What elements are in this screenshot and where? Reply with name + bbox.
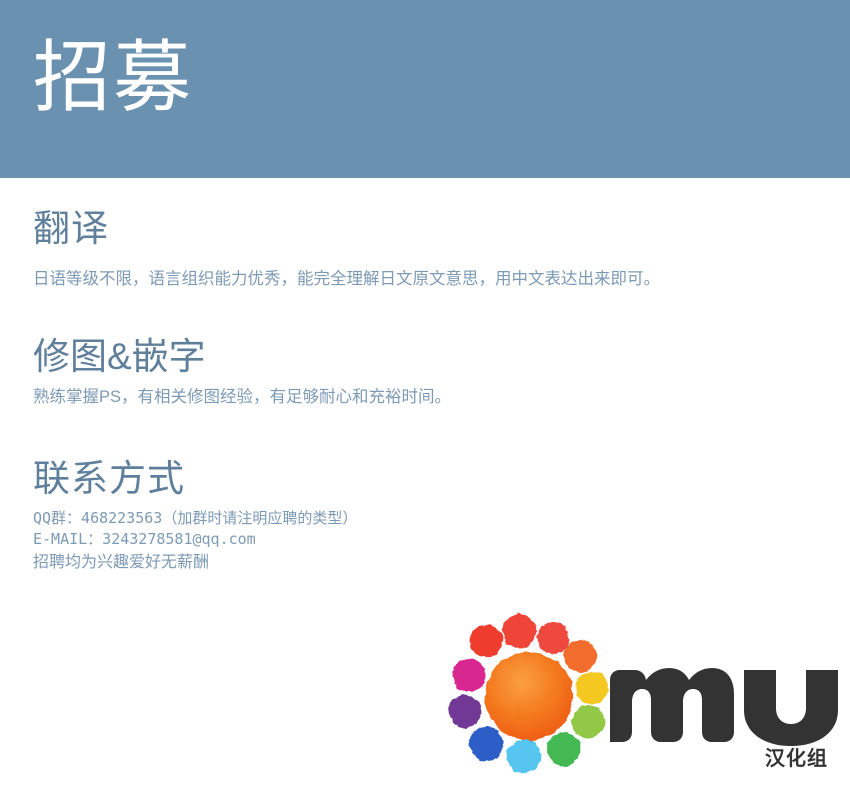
section-retouch-typeset: 修图&嵌字 熟练掌握PS，有相关修图经验，有足够耐心和充裕时间。 [33, 336, 451, 410]
dot-red-top [502, 614, 536, 648]
page-title: 招募 [33, 38, 193, 116]
brand-logo: 汉化组 [440, 608, 850, 800]
contact-line-qq[interactable]: QQ群：468223563（加群时请注明应聘的类型） [33, 508, 357, 530]
section-contact: 联系方式 QQ群：468223563（加群时请注明应聘的类型） E-MAIL：3… [33, 458, 357, 574]
dot-red-top-right [537, 622, 569, 654]
contact-line-note: 招聘均为兴趣爱好无薪酬 [33, 551, 357, 574]
section-retouch-typeset-heading: 修图&嵌字 [33, 336, 451, 379]
contact-list: QQ群：468223563（加群时请注明应聘的类型） E-MAIL：324327… [33, 508, 357, 575]
dot-magenta [453, 659, 486, 692]
section-contact-heading: 联系方式 [33, 458, 357, 501]
dot-purple [449, 695, 482, 728]
dot-blue [469, 727, 503, 761]
header-banner: 招募 [0, 0, 850, 178]
dot-red-top-left [470, 625, 503, 658]
logo-dot-ring-icon [440, 608, 630, 798]
dot-orange [564, 640, 597, 673]
section-translation-heading: 翻译 [33, 208, 660, 251]
logo-center-blob [485, 652, 573, 740]
section-translation: 翻译 日语等级不限，语言组织能力优秀，能完全理解日文原文意思，用中文表达出来即可… [33, 208, 660, 292]
dot-green [547, 732, 581, 766]
dot-light-blue [507, 739, 541, 773]
logo-subtitle: 汉化组 [765, 742, 828, 771]
dot-yellow [576, 672, 609, 705]
section-translation-body: 日语等级不限，语言组织能力优秀，能完全理解日文原文意思，用中文表达出来即可。 [33, 267, 660, 293]
section-retouch-typeset-body: 熟练掌握PS，有相关修图经验，有足够耐心和充裕时间。 [33, 385, 451, 411]
contact-line-email[interactable]: E-MAIL：3243278581@qq.com [33, 529, 357, 551]
dot-yellow-green [572, 706, 605, 739]
